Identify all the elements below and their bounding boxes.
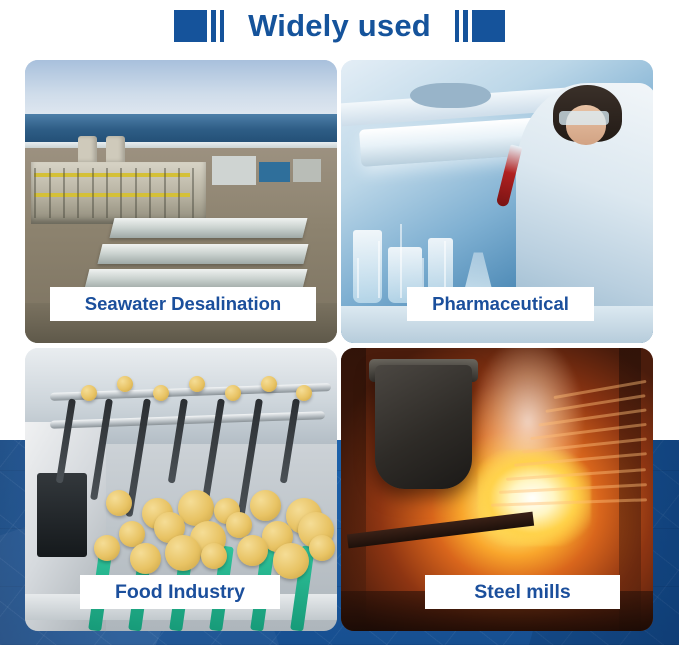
decor-biscuit xyxy=(309,535,335,561)
decor-pipe xyxy=(92,168,94,219)
decor-pipe xyxy=(77,168,79,219)
card-label-steel-mills: Steel mills xyxy=(425,575,620,609)
left-decoration-icon xyxy=(174,10,224,42)
header: Widely used xyxy=(0,0,679,52)
application-grid: Seawater Desalination Pharmaceutical xyxy=(25,60,655,627)
decor-pipe xyxy=(149,168,151,219)
decor-biscuit xyxy=(94,535,120,561)
decor-biscuit xyxy=(189,376,205,392)
decoration-bar-icon xyxy=(211,10,216,42)
decor-biscuit xyxy=(237,535,268,566)
decor-pipe xyxy=(178,168,180,219)
decor-pipe xyxy=(120,168,122,219)
decoration-square-icon xyxy=(174,10,207,42)
card-label-pharmaceutical: Pharmaceutical xyxy=(407,287,594,321)
decoration-bar-icon xyxy=(220,10,224,42)
card-food-industry[interactable]: Food Industry xyxy=(25,348,337,631)
card-label-seawater-desalination: Seawater Desalination xyxy=(50,287,316,321)
decor-biscuit xyxy=(261,376,277,392)
decoration-bar-icon xyxy=(463,10,468,42)
decor-biscuit xyxy=(225,385,241,401)
page-title: Widely used xyxy=(238,8,441,44)
decor-pipe xyxy=(63,168,65,219)
decor-biscuit xyxy=(106,490,132,516)
card-pharmaceutical[interactable]: Pharmaceutical xyxy=(341,60,653,343)
decor-glass-reflection xyxy=(357,258,359,298)
decor-biscuit xyxy=(81,385,97,401)
decor-biscuit xyxy=(153,385,169,401)
decor-pipe xyxy=(192,168,194,219)
decor-biscuit xyxy=(226,512,252,538)
decor-biscuit xyxy=(250,490,281,521)
decor-biscuit xyxy=(130,543,161,574)
decor-biscuit xyxy=(165,535,201,571)
card-seawater-desalination[interactable]: Seawater Desalination xyxy=(25,60,337,343)
widely-used-banner: Widely used xyxy=(0,0,679,645)
decor-pipe xyxy=(106,168,108,219)
decor-pipe xyxy=(135,168,137,219)
card-steel-mills[interactable]: Steel mills xyxy=(341,348,653,631)
decor-glass-reflection xyxy=(400,224,402,298)
decor-pipe xyxy=(34,168,36,219)
decoration-square-icon xyxy=(472,10,505,42)
right-decoration-icon xyxy=(455,10,505,42)
decoration-bar-icon xyxy=(455,10,459,42)
decor-pipe xyxy=(49,168,51,219)
decor-glass-reflection xyxy=(378,241,380,298)
decor-pipe xyxy=(164,168,166,219)
card-label-food-industry: Food Industry xyxy=(80,575,280,609)
